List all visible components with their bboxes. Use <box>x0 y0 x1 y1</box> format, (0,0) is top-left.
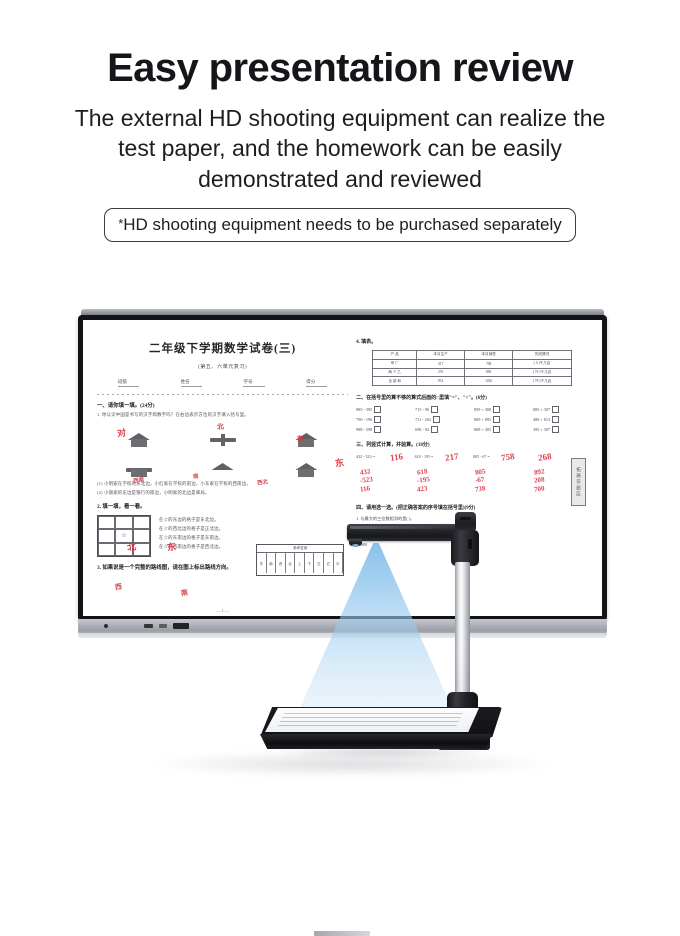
disclaimer-wrapper: *HD shooting equipment needs to be purch… <box>0 208 680 242</box>
platform-shadow <box>268 748 498 758</box>
platform-document-text <box>278 711 464 726</box>
document-camera-assembly <box>0 296 680 823</box>
page-title: Easy presentation review <box>0 46 680 91</box>
asterisk-icon: * <box>118 216 123 231</box>
brand-logo <box>314 931 370 936</box>
disclaimer-text: HD shooting equipment needs to be purcha… <box>123 215 562 234</box>
camera-lens-icon <box>352 544 359 547</box>
scanner-base-platform <box>260 707 502 753</box>
disclaimer-note: *HD shooting equipment needs to be purch… <box>104 208 576 242</box>
product-scene: 二年级下学期数学试卷(三) (第五、六单元复习) 班级 姓名 学号 得分 一、请… <box>0 296 680 823</box>
camera-neck-detail <box>468 539 472 549</box>
pole-shading <box>455 562 470 706</box>
camera-head-slot <box>460 517 471 520</box>
camera-neck-joint[interactable] <box>451 530 479 566</box>
page-header: Easy presentation review The external HD… <box>0 0 680 242</box>
platform-front-edge <box>260 734 502 749</box>
page-subtitle: The external HD shooting equipment can r… <box>60 103 620 195</box>
camera-head <box>455 512 476 532</box>
